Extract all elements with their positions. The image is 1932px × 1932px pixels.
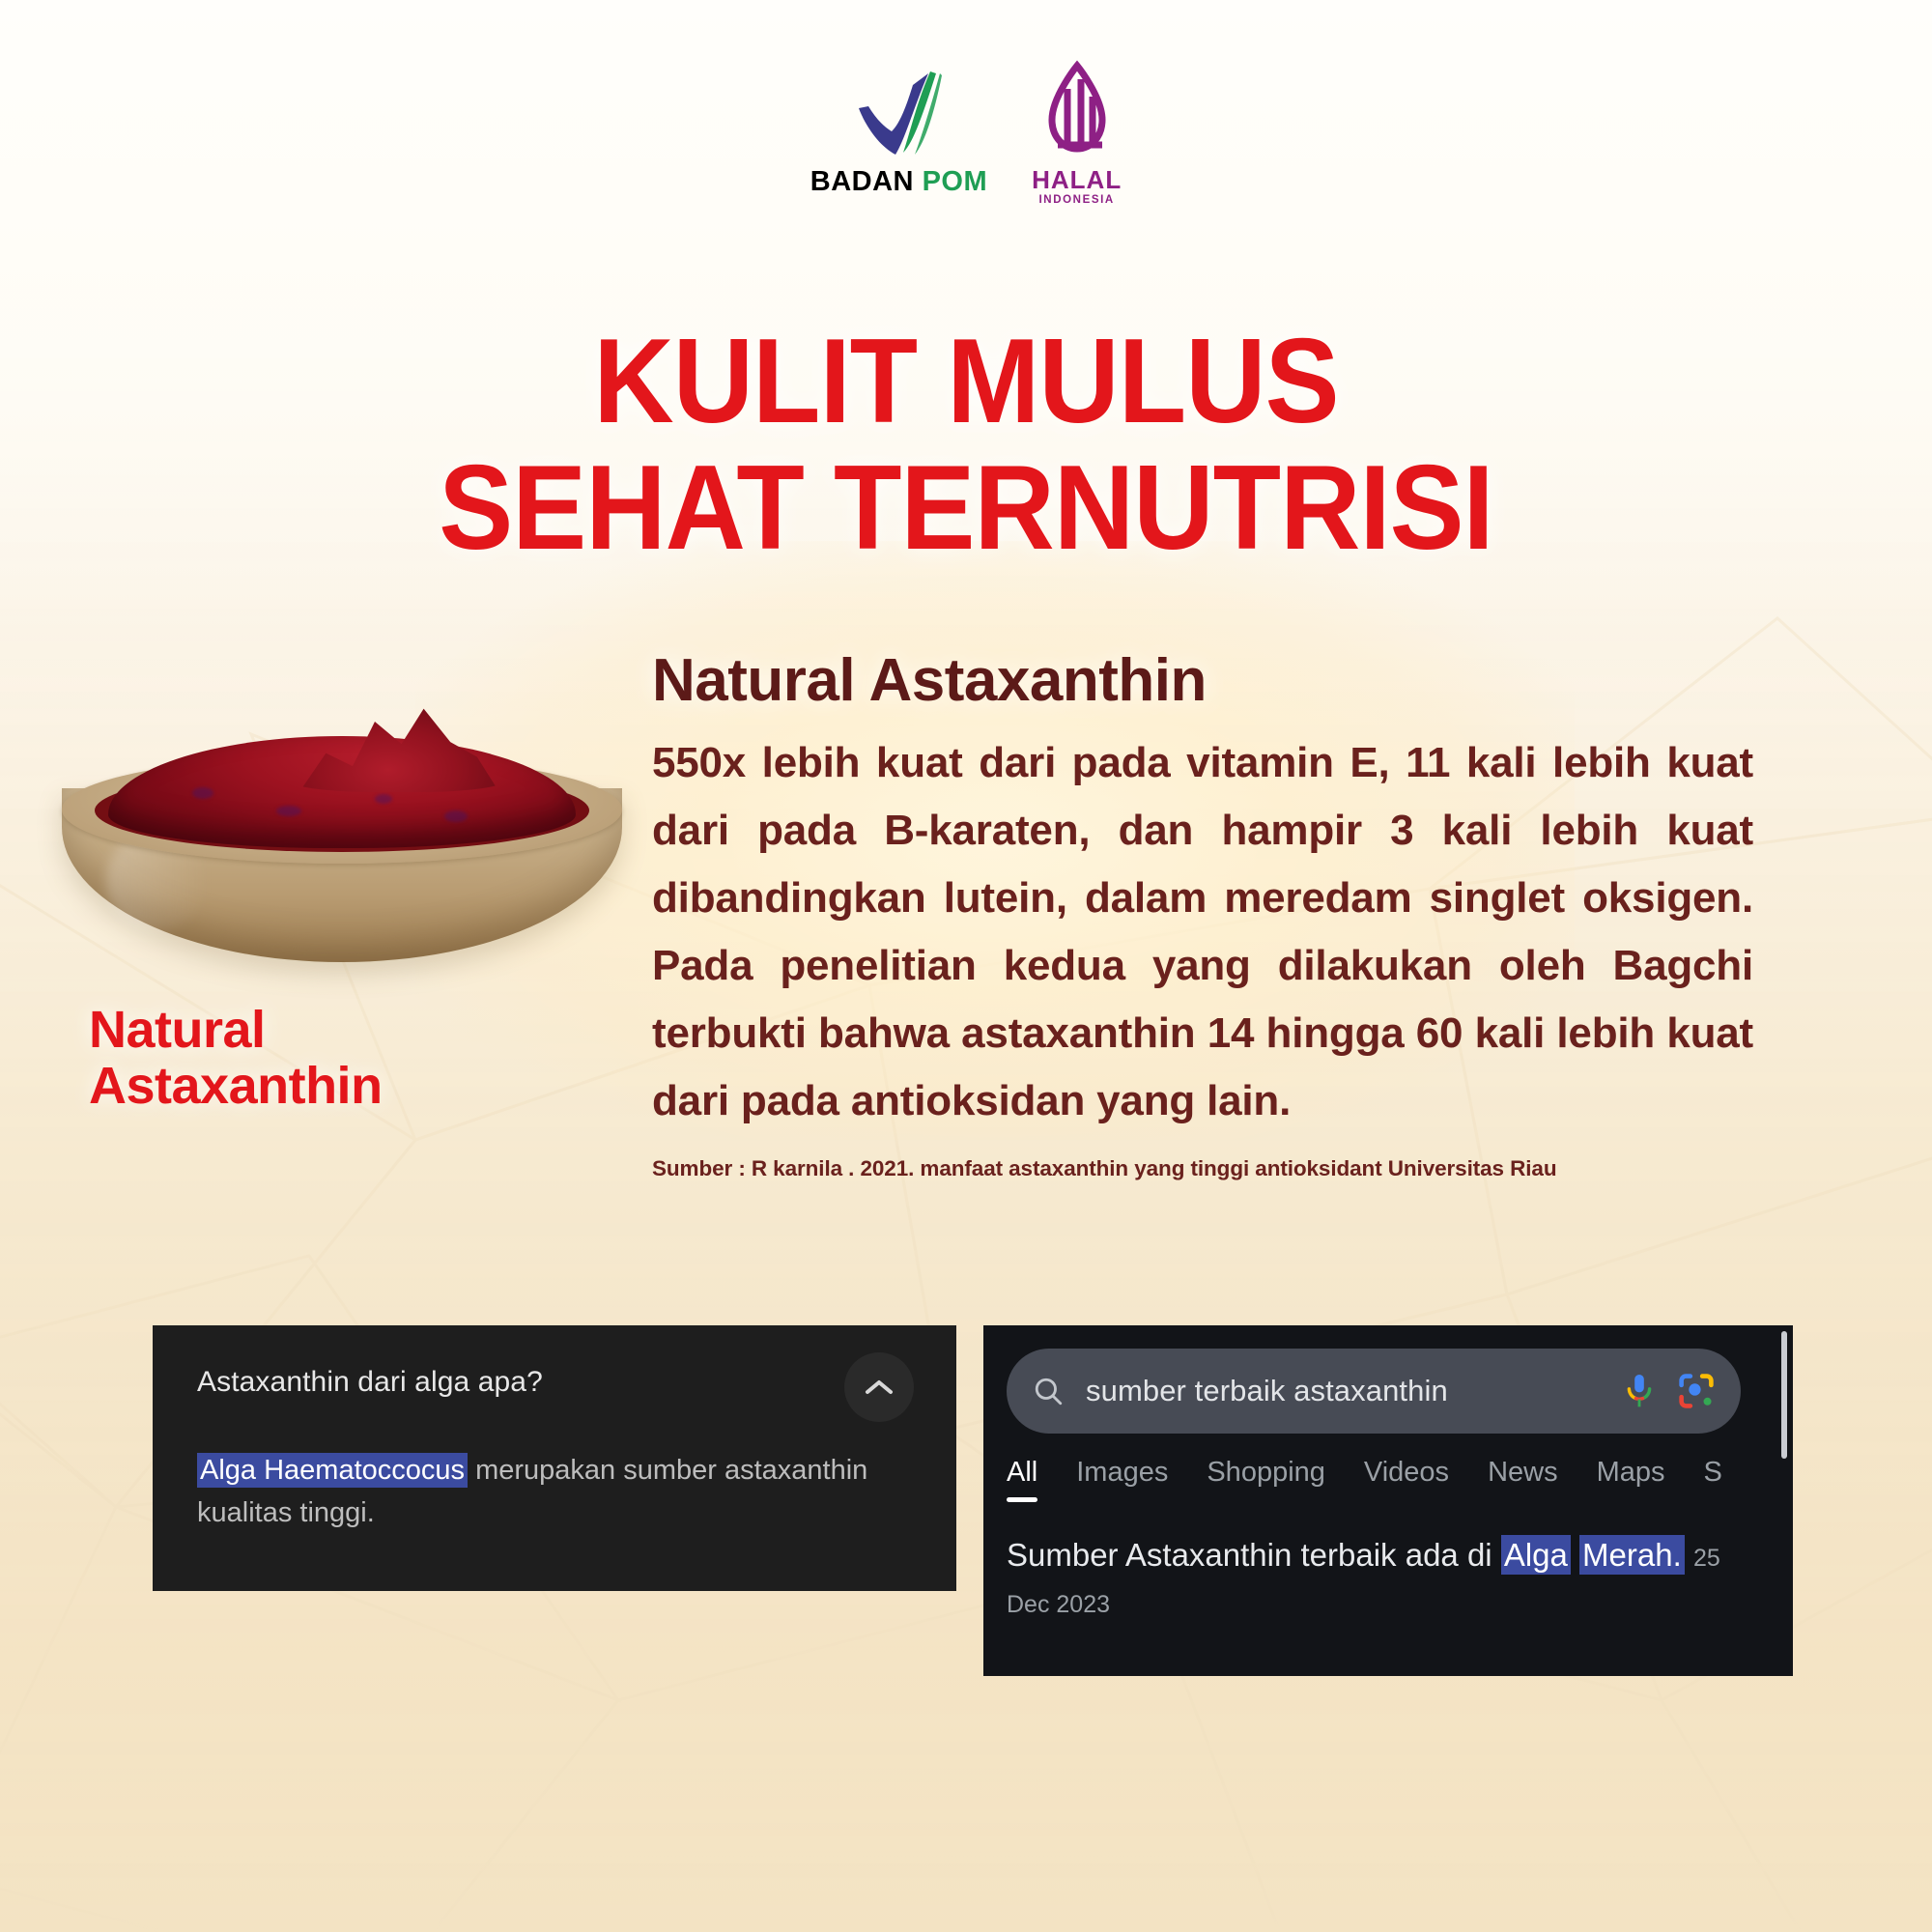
- tab-shopping[interactable]: Shopping: [1207, 1457, 1325, 1502]
- product-caption-line-2: Astaxanthin: [89, 1059, 630, 1115]
- result-highlight-merah: Merah.: [1579, 1535, 1685, 1575]
- search-icon: [1032, 1375, 1065, 1407]
- bpom-shield-icon: [845, 60, 952, 164]
- bpom-pom-text: POM: [923, 166, 988, 197]
- title-line-2: SEHAT TERNUTRISI: [68, 445, 1864, 572]
- product-caption-line-1: Natural: [89, 1003, 630, 1059]
- result-prefix: Sumber Astaxanthin terbaik ada di: [1007, 1537, 1501, 1573]
- tab-videos[interactable]: Videos: [1364, 1457, 1449, 1502]
- wooden-bowl-graphic: [62, 742, 622, 964]
- tab-images[interactable]: Images: [1076, 1457, 1168, 1502]
- content-column: Natural Astaxanthin 550x lebih kuat dari…: [652, 649, 1753, 1181]
- source-citation: Sumber : R karnila . 2021. manfaat astax…: [652, 1156, 1753, 1181]
- tab-more-cutoff[interactable]: S: [1704, 1457, 1722, 1502]
- search-result-snippet: Sumber Astaxanthin terbaik ada di Alga M…: [1007, 1532, 1770, 1625]
- page-title: KULIT MULUS SEHAT TERNUTRISI: [68, 319, 1864, 573]
- halal-indonesia-subtext: INDONESIA: [1039, 194, 1115, 206]
- paa-answer-text: Alga Haematoccocus merupakan sumber asta…: [197, 1449, 912, 1534]
- astaxanthin-powder-mound: [108, 736, 576, 848]
- paa-answer-highlight: Alga Haematoccocus: [197, 1453, 468, 1488]
- bpom-badan-text: BADAN: [810, 166, 914, 197]
- content-body-paragraph: 550x lebih kuat dari pada vitamin E, 11 …: [652, 729, 1753, 1135]
- content-heading: Natural Astaxanthin: [652, 649, 1753, 714]
- search-input[interactable]: sumber terbaik astaxanthin: [1086, 1374, 1602, 1408]
- tab-maps[interactable]: Maps: [1597, 1457, 1665, 1502]
- google-lens-icon[interactable]: [1677, 1372, 1716, 1410]
- result-highlight-alga: Alga: [1501, 1535, 1571, 1575]
- search-bar[interactable]: sumber terbaik astaxanthin: [1007, 1349, 1741, 1434]
- product-image: [41, 694, 639, 983]
- people-also-ask-card[interactable]: Astaxanthin dari alga apa? Alga Haematoc…: [153, 1325, 956, 1591]
- google-search-card[interactable]: sumber terbaik astaxanthin All Images Sh…: [983, 1325, 1793, 1676]
- halal-logo: HALAL INDONESIA: [1032, 60, 1122, 206]
- halal-wordmark: HALAL: [1032, 167, 1122, 192]
- halal-indonesia-icon: [1038, 60, 1116, 164]
- title-line-1: KULIT MULUS: [68, 319, 1864, 445]
- tab-all[interactable]: All: [1007, 1457, 1037, 1502]
- microphone-icon[interactable]: [1623, 1372, 1656, 1410]
- bpom-wordmark: BADAN POM: [810, 166, 987, 198]
- paa-question-text: Astaxanthin dari alga apa?: [197, 1366, 912, 1399]
- certification-logos: BADAN POM HALAL INDONESIA: [0, 60, 1932, 206]
- search-tabs[interactable]: All Images Shopping Videos News Maps S: [1007, 1457, 1793, 1502]
- chevron-up-glyph: [865, 1378, 894, 1396]
- chevron-up-icon[interactable]: [844, 1352, 914, 1422]
- product-caption: Natural Astaxanthin: [89, 1003, 630, 1115]
- poster-canvas: BADAN POM HALAL INDONESIA KULIT MULUS SE…: [0, 0, 1932, 1932]
- scrollbar[interactable]: [1781, 1331, 1787, 1459]
- tab-news[interactable]: News: [1488, 1457, 1558, 1502]
- bpom-logo: BADAN POM: [810, 60, 987, 198]
